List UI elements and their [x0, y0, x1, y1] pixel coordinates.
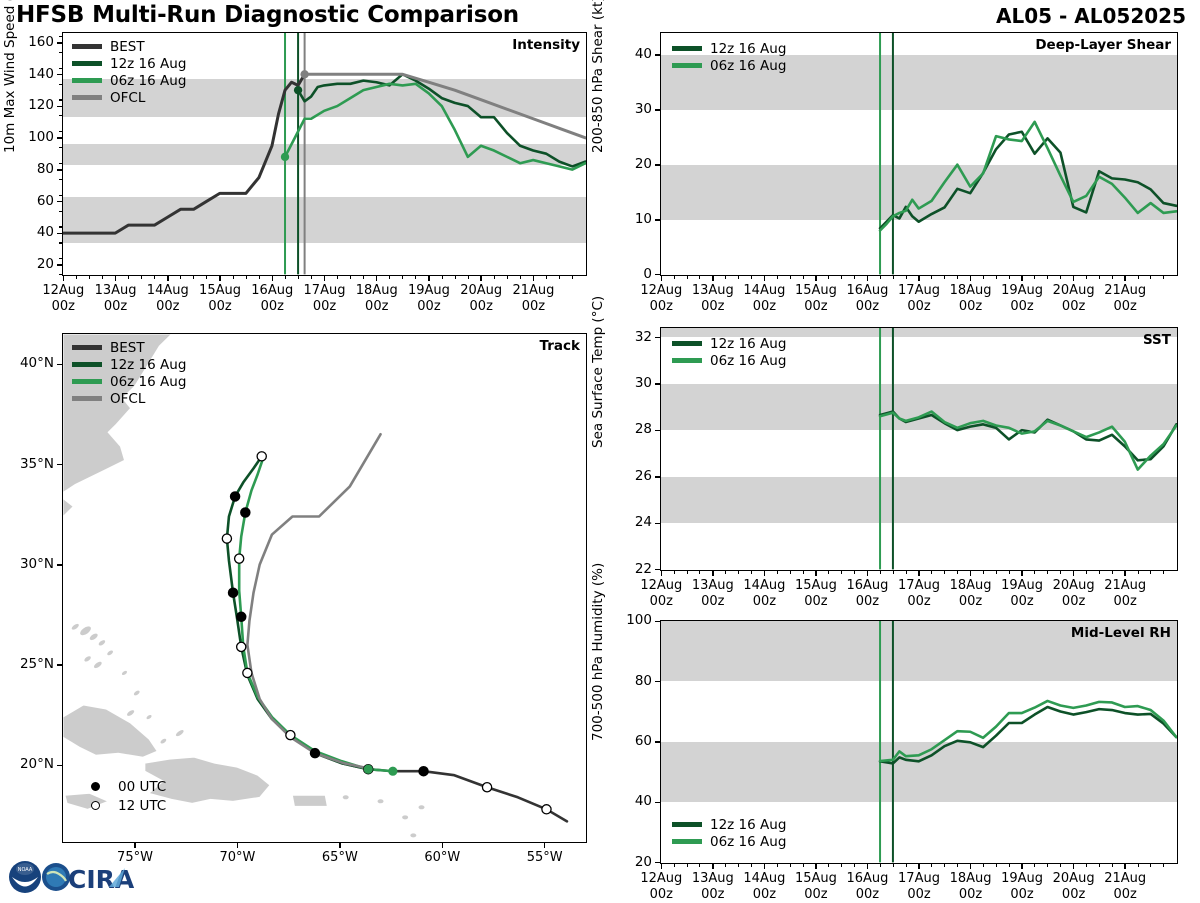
x-tick-day: 21Aug	[1091, 283, 1159, 299]
x-tickmark	[918, 276, 920, 281]
series-line-best	[63, 74, 305, 233]
x-minor-tickmark	[1047, 571, 1048, 574]
x-tick-label: 20Aug00z	[447, 283, 515, 315]
track-marker-12utc	[286, 731, 295, 740]
x-minor-tickmark	[1138, 864, 1139, 867]
x-minor-tickmark	[1060, 276, 1061, 279]
landmass-lesser-antilles-islet	[410, 833, 416, 837]
x-minor-tickmark	[674, 276, 675, 279]
intensity-panel: Intensity	[62, 32, 587, 276]
x-minor-tickmark	[699, 276, 700, 279]
x-tick-label: 14Aug00z	[730, 578, 798, 610]
track-marker-12utc	[482, 783, 491, 792]
track-marker-00utc	[230, 492, 239, 501]
x-tick-label: 14Aug00z	[730, 871, 798, 903]
x-tick-day: 18Aug	[937, 871, 1005, 887]
x-minor-tickmark	[674, 571, 675, 574]
x-minor-tickmark	[957, 276, 958, 279]
x-tickmark	[712, 276, 714, 281]
x-tickmark	[970, 864, 972, 869]
x-minor-tickmark	[1034, 864, 1035, 867]
x-tickmark	[63, 276, 65, 281]
x-minor-tickmark	[141, 276, 142, 279]
y-tick-label: 28	[610, 421, 652, 437]
y-tick-label: 24	[610, 514, 652, 530]
y-tick-label: 160	[12, 34, 54, 50]
x-minor-tickmark	[559, 276, 560, 279]
y-tick-label: 32	[610, 329, 652, 345]
track-marker-00utc	[228, 588, 237, 597]
x-minor-tickmark	[944, 571, 945, 574]
x-minor-tickmark	[1086, 864, 1087, 867]
x-minor-tickmark	[259, 276, 260, 279]
x-tick-label: 14Aug00z	[134, 283, 202, 315]
lon-tickmark	[442, 843, 444, 848]
x-minor-tickmark	[854, 276, 855, 279]
y-tick-label: 20	[610, 854, 652, 870]
landmass-bahamas-islet	[146, 714, 153, 720]
x-tickmark	[1073, 276, 1075, 281]
x-tick-day: 12Aug	[627, 871, 695, 887]
logo-bar: NOAA CIRA	[6, 856, 166, 898]
lon-tickmark	[237, 843, 239, 848]
panel-title-sst: SST	[1143, 332, 1171, 348]
x-minor-tickmark	[350, 276, 351, 279]
x-tickmark	[1021, 276, 1023, 281]
x-minor-tickmark	[415, 276, 416, 279]
sst-panel: SST	[660, 327, 1178, 571]
x-minor-tickmark	[1060, 571, 1061, 574]
x-tick-day: 16Aug	[833, 283, 901, 299]
intensity-series-layer	[63, 33, 585, 274]
x-tick-day: 20Aug	[1040, 871, 1108, 887]
x-tick-hour: 00z	[730, 887, 798, 903]
x-minor-tickmark	[442, 276, 443, 279]
x-minor-tickmark	[1112, 571, 1113, 574]
landmass-bahamas-islet	[98, 639, 106, 647]
cira-wordmark: CIRA	[68, 865, 135, 894]
x-tick-label: 17Aug00z	[885, 578, 953, 610]
panel-title-track: Track	[540, 338, 580, 354]
x-minor-tickmark	[193, 276, 194, 279]
lat-tick-label: 30°N	[6, 556, 54, 572]
x-tick-label: 21Aug00z	[1091, 871, 1159, 903]
x-tickmark	[970, 276, 972, 281]
x-minor-tickmark	[725, 571, 726, 574]
x-tick-day: 19Aug	[988, 871, 1056, 887]
x-tick-hour: 00z	[730, 299, 798, 315]
x-minor-tickmark	[777, 571, 778, 574]
panel-title-deep_layer_shear: Deep-Layer Shear	[1035, 37, 1171, 53]
x-tick-label: 17Aug00z	[885, 871, 953, 903]
x-tick-day: 21Aug	[1091, 871, 1159, 887]
x-minor-tickmark	[828, 571, 829, 574]
x-tick-label: 15Aug00z	[782, 578, 850, 610]
x-minor-tickmark	[931, 571, 932, 574]
landmass-bahamas-islet	[121, 670, 128, 676]
x-tick-label: 15Aug00z	[782, 871, 850, 903]
x-minor-tickmark	[1034, 276, 1035, 279]
x-tick-hour: 00z	[1040, 887, 1108, 903]
x-tick-day: 12Aug	[627, 578, 695, 594]
x-minor-tickmark	[298, 276, 299, 279]
y-tick-label: 22	[610, 561, 652, 577]
x-tick-hour: 00z	[627, 887, 695, 903]
lat-tick-label: 20°N	[6, 756, 54, 772]
x-tickmark	[661, 864, 663, 869]
x-tickmark	[815, 571, 817, 576]
x-tickmark	[764, 864, 766, 869]
x-tickmark	[970, 571, 972, 576]
x-minor-tickmark	[1009, 276, 1010, 279]
x-tick-label: 17Aug00z	[885, 283, 953, 315]
x-tickmark	[867, 571, 869, 576]
y-tick-label: 140	[12, 66, 54, 82]
x-minor-tickmark	[854, 864, 855, 867]
x-minor-tickmark	[363, 276, 364, 279]
x-tick-hour: 00z	[937, 887, 1005, 903]
lon-tick-label: 65°W	[304, 850, 376, 866]
x-minor-tickmark	[285, 276, 286, 279]
y-tick-label: 120	[12, 97, 54, 113]
x-tick-label: 19Aug00z	[988, 578, 1056, 610]
x-tick-label: 18Aug00z	[937, 871, 1005, 903]
y-tick-label: 10	[610, 211, 652, 227]
x-tick-hour: 00z	[447, 299, 515, 315]
x-tick-day: 14Aug	[730, 871, 798, 887]
y-tick-label: 60	[610, 733, 652, 749]
x-tickmark	[918, 864, 920, 869]
x-tickmark	[324, 276, 326, 281]
series-line-06z-16-aug	[285, 84, 585, 170]
landmass-lesser-antilles-islet	[378, 799, 384, 803]
x-tickmark	[167, 276, 169, 281]
x-tick-hour: 00z	[988, 887, 1056, 903]
track-marker-12utc	[243, 668, 252, 677]
x-minor-tickmark	[841, 864, 842, 867]
lat-tick-label: 25°N	[6, 656, 54, 672]
x-tick-hour: 00z	[343, 299, 411, 315]
x-minor-tickmark	[76, 276, 77, 279]
x-minor-tickmark	[880, 864, 881, 867]
x-minor-tickmark	[931, 276, 932, 279]
x-minor-tickmark	[674, 864, 675, 867]
x-tickmark	[815, 864, 817, 869]
x-tickmark	[764, 571, 766, 576]
x-tickmark	[918, 571, 920, 576]
x-minor-tickmark	[246, 276, 247, 279]
x-tick-day: 20Aug	[447, 283, 515, 299]
x-minor-tickmark	[996, 276, 997, 279]
landmass-southeast	[63, 499, 73, 517]
landmass-bahamas-islet	[160, 738, 167, 745]
x-tickmark	[376, 276, 378, 281]
x-tick-day: 17Aug	[885, 578, 953, 594]
x-minor-tickmark	[996, 864, 997, 867]
page-title: HFSB Multi-Run Diagnostic Comparison	[16, 2, 519, 28]
shear-panel: Deep-Layer Shear	[660, 32, 1178, 276]
landmass-lesser-antilles-islet	[402, 815, 408, 819]
x-minor-tickmark	[1163, 864, 1164, 867]
x-minor-tickmark	[751, 276, 752, 279]
y-tick-label: 26	[610, 468, 652, 484]
x-tick-hour: 00z	[988, 299, 1056, 315]
x-minor-tickmark	[803, 864, 804, 867]
x-tick-label: 21Aug00z	[499, 283, 567, 315]
landmass-bahamas-islet	[93, 661, 103, 670]
x-minor-tickmark	[402, 276, 403, 279]
x-tick-label: 18Aug00z	[343, 283, 411, 315]
landmass-bahamas-islet	[106, 650, 113, 657]
x-tick-day: 15Aug	[782, 871, 850, 887]
track-line-ofcl	[247, 434, 380, 769]
x-minor-tickmark	[1060, 864, 1061, 867]
series-line-12z-16-aug	[880, 132, 1176, 229]
landmass-jamaica	[65, 793, 108, 809]
track-marker-00utc	[419, 767, 428, 776]
sst-series-layer	[661, 328, 1176, 569]
x-tickmark	[661, 276, 663, 281]
lon-tick-label: 60°W	[406, 850, 478, 866]
x-minor-tickmark	[841, 276, 842, 279]
x-tick-label: 19Aug00z	[988, 871, 1056, 903]
x-minor-tickmark	[803, 276, 804, 279]
x-tick-label: 13Aug00z	[679, 283, 747, 315]
x-tick-hour: 00z	[937, 594, 1005, 610]
x-tick-label: 16Aug00z	[238, 283, 306, 315]
x-tickmark	[867, 864, 869, 869]
x-minor-tickmark	[1163, 276, 1164, 279]
panel-title-mid_level_rh: Mid-Level RH	[1071, 625, 1171, 641]
x-tick-hour: 00z	[499, 299, 567, 315]
x-minor-tickmark	[777, 276, 778, 279]
landmass-puerto-rico	[292, 795, 327, 806]
x-tick-hour: 00z	[1091, 594, 1159, 610]
x-tick-hour: 00z	[134, 299, 202, 315]
x-tickmark	[712, 864, 714, 869]
track-marker-12utc	[257, 452, 266, 461]
x-tickmark	[115, 276, 117, 281]
x-minor-tickmark	[893, 571, 894, 574]
x-minor-tickmark	[1034, 571, 1035, 574]
lon-tickmark	[339, 843, 341, 848]
lon-tick-label: 70°W	[201, 850, 273, 866]
y-tick-label: 60	[12, 193, 54, 209]
x-minor-tickmark	[1150, 864, 1151, 867]
x-minor-tickmark	[828, 864, 829, 867]
x-tick-label: 12Aug00z	[627, 871, 695, 903]
x-tick-label: 12Aug00z	[627, 578, 695, 610]
x-tick-hour: 00z	[238, 299, 306, 315]
x-tickmark	[1073, 571, 1075, 576]
x-minor-tickmark	[803, 571, 804, 574]
x-tick-day: 19Aug	[988, 578, 1056, 594]
x-tickmark	[1073, 864, 1075, 869]
x-tick-day: 13Aug	[679, 871, 747, 887]
x-tick-day: 19Aug	[988, 283, 1056, 299]
x-tick-day: 18Aug	[937, 578, 1005, 594]
track-marker-00utc	[310, 749, 319, 758]
x-tick-label: 18Aug00z	[937, 283, 1005, 315]
x-minor-tickmark	[1047, 276, 1048, 279]
series-line-12z-16-aug	[298, 74, 585, 166]
x-minor-tickmark	[893, 276, 894, 279]
x-tick-day: 13Aug	[679, 283, 747, 299]
mid_level_rh-series-layer	[661, 621, 1176, 862]
x-tick-label: 15Aug00z	[186, 283, 254, 315]
x-tick-label: 12Aug00z	[29, 283, 97, 315]
x-tick-label: 16Aug00z	[833, 283, 901, 315]
x-tickmark	[1124, 571, 1126, 576]
x-tick-hour: 00z	[885, 887, 953, 903]
x-tick-day: 14Aug	[730, 578, 798, 594]
x-minor-tickmark	[996, 571, 997, 574]
x-tick-hour: 00z	[627, 299, 695, 315]
landmass-bahamas-islet	[126, 709, 135, 717]
x-tick-label: 16Aug00z	[833, 871, 901, 903]
x-tick-day: 12Aug	[627, 283, 695, 299]
x-tick-hour: 00z	[833, 594, 901, 610]
x-minor-tickmark	[790, 276, 791, 279]
track-marker-12utc	[237, 642, 246, 651]
x-minor-tickmark	[180, 276, 181, 279]
landmass-bahamas-islet	[79, 625, 93, 637]
x-minor-tickmark	[841, 571, 842, 574]
x-tick-label: 16Aug00z	[833, 578, 901, 610]
svg-text:NOAA: NOAA	[18, 867, 33, 873]
x-tick-day: 16Aug	[833, 578, 901, 594]
x-tickmark	[1124, 864, 1126, 869]
x-minor-tickmark	[89, 276, 90, 279]
x-tick-label: 13Aug00z	[679, 871, 747, 903]
x-minor-tickmark	[468, 276, 469, 279]
series-line-06z-16-aug	[880, 122, 1176, 231]
track-marker-12utc	[235, 554, 244, 563]
x-tick-label: 18Aug00z	[937, 578, 1005, 610]
x-minor-tickmark	[1099, 571, 1100, 574]
x-minor-tickmark	[337, 276, 338, 279]
x-minor-tickmark	[687, 571, 688, 574]
x-tick-hour: 00z	[627, 594, 695, 610]
track-marker-00utc	[241, 508, 250, 517]
x-tick-day: 13Aug	[679, 578, 747, 594]
x-tick-hour: 00z	[186, 299, 254, 315]
x-tick-day: 15Aug	[782, 578, 850, 594]
x-tickmark	[428, 276, 430, 281]
x-tick-label: 20Aug00z	[1040, 578, 1108, 610]
track-marker-run-start	[364, 765, 373, 774]
x-minor-tickmark	[1086, 276, 1087, 279]
lon-tick-label: 55°W	[509, 850, 581, 866]
x-tick-day: 21Aug	[1091, 578, 1159, 594]
series-start-marker	[294, 86, 302, 94]
x-tick-day: 16Aug	[238, 283, 306, 299]
x-minor-tickmark	[1112, 864, 1113, 867]
x-tick-day: 19Aug	[395, 283, 463, 299]
x-minor-tickmark	[1099, 276, 1100, 279]
x-minor-tickmark	[880, 571, 881, 574]
noaa-cira-logo-svg: NOAA CIRA	[6, 856, 166, 898]
landmass-bahamas-islet	[71, 623, 80, 631]
landmass-lesser-antilles-islet	[419, 805, 425, 809]
x-minor-tickmark	[983, 864, 984, 867]
x-minor-tickmark	[854, 571, 855, 574]
x-tick-label: 19Aug00z	[395, 283, 463, 315]
x-minor-tickmark	[906, 571, 907, 574]
x-minor-tickmark	[751, 864, 752, 867]
x-minor-tickmark	[1138, 276, 1139, 279]
x-minor-tickmark	[455, 276, 456, 279]
y-tick-label: 40	[12, 224, 54, 240]
x-minor-tickmark	[777, 864, 778, 867]
track-map-layer	[63, 334, 585, 841]
x-minor-tickmark	[494, 276, 495, 279]
x-tick-hour: 00z	[395, 299, 463, 315]
x-tick-label: 13Aug00z	[82, 283, 150, 315]
x-tickmark	[1021, 864, 1023, 869]
x-tick-day: 21Aug	[499, 283, 567, 299]
x-tick-day: 17Aug	[885, 871, 953, 887]
x-minor-tickmark	[725, 276, 726, 279]
y-tick-label: 20	[610, 156, 652, 172]
x-tick-hour: 00z	[833, 887, 901, 903]
x-minor-tickmark	[699, 864, 700, 867]
x-minor-tickmark	[790, 571, 791, 574]
lat-tick-label: 40°N	[6, 355, 54, 371]
x-minor-tickmark	[790, 864, 791, 867]
landmass-bahamas-islet	[133, 690, 140, 697]
y-tick-label: 100	[12, 129, 54, 145]
x-tick-hour: 00z	[679, 299, 747, 315]
x-minor-tickmark	[154, 276, 155, 279]
x-minor-tickmark	[906, 864, 907, 867]
deep_layer_shear-series-layer	[661, 33, 1176, 274]
x-tick-label: 15Aug00z	[782, 283, 850, 315]
x-minor-tickmark	[944, 864, 945, 867]
x-minor-tickmark	[738, 571, 739, 574]
x-tick-day: 14Aug	[134, 283, 202, 299]
y-tick-label: 0	[610, 266, 652, 282]
x-tickmark	[219, 276, 221, 281]
x-tick-hour: 00z	[679, 887, 747, 903]
x-minor-tickmark	[520, 276, 521, 279]
landmass-bahamas-islet	[83, 655, 91, 663]
landmass-bahamas-islet	[89, 632, 99, 641]
x-tick-day: 18Aug	[937, 283, 1005, 299]
x-minor-tickmark	[1150, 571, 1151, 574]
x-tick-label: 21Aug00z	[1091, 283, 1159, 315]
x-tick-label: 12Aug00z	[627, 283, 695, 315]
x-tickmark	[764, 276, 766, 281]
x-tick-hour: 00z	[833, 299, 901, 315]
x-tick-hour: 00z	[1091, 299, 1159, 315]
storm-id-title: AL05 - AL052025	[996, 4, 1186, 28]
x-tickmark	[480, 276, 482, 281]
x-minor-tickmark	[1138, 571, 1139, 574]
x-tick-day: 13Aug	[82, 283, 150, 299]
x-tick-label: 20Aug00z	[1040, 283, 1108, 315]
track-line-06z-16-aug	[239, 456, 393, 771]
y-tick-label: 80	[12, 161, 54, 177]
x-tick-hour: 00z	[291, 299, 359, 315]
x-minor-tickmark	[687, 864, 688, 867]
x-minor-tickmark	[983, 571, 984, 574]
x-tickmark	[272, 276, 274, 281]
x-minor-tickmark	[725, 864, 726, 867]
x-tickmark	[1021, 571, 1023, 576]
landmass-cuba	[63, 705, 157, 757]
x-tickmark	[712, 571, 714, 576]
